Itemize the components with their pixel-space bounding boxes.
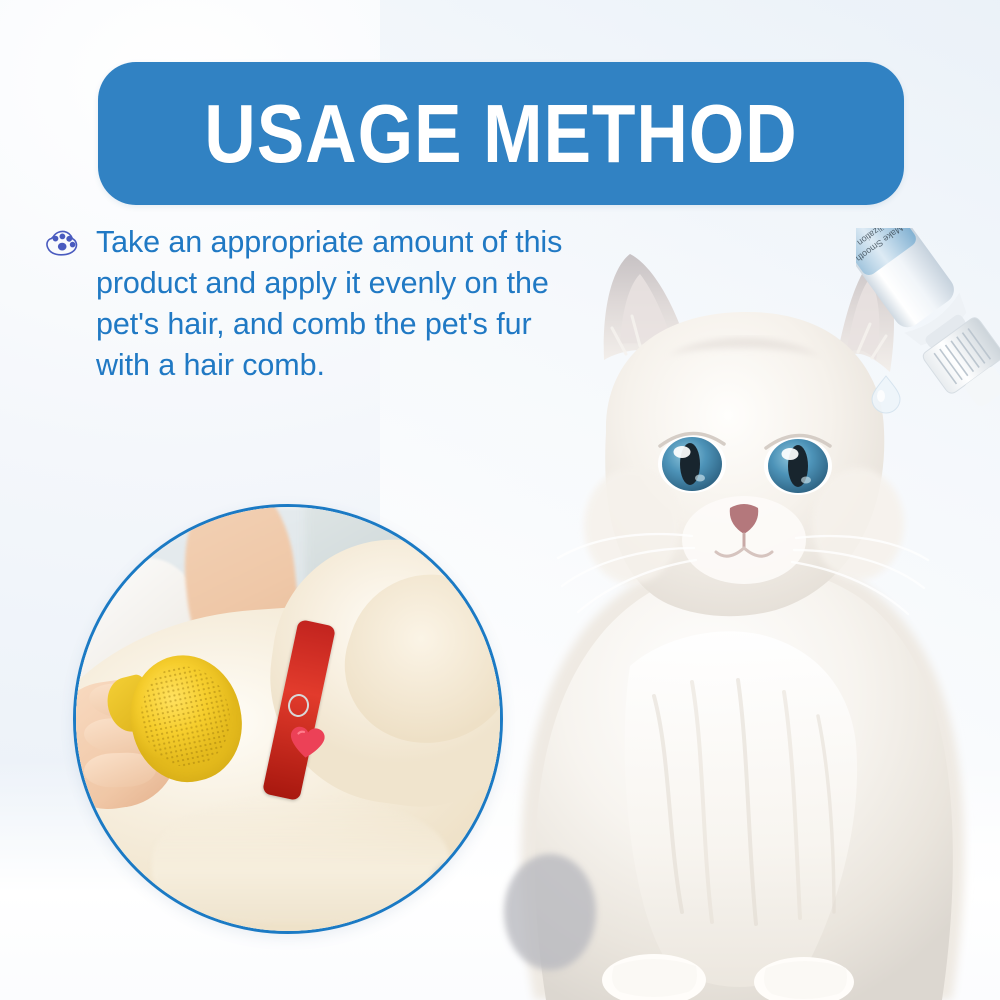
grooming-demo-photo <box>73 504 503 934</box>
cat-haunch-shadow <box>504 854 596 970</box>
inset-dog-fur <box>152 795 449 922</box>
instruction-block: Take an appropriate amount of this produ… <box>44 222 584 386</box>
page-title: USAGE METHOD <box>204 92 797 175</box>
poster-canvas: Make Smooth sterilization <box>0 0 1000 1000</box>
liquid-droplet <box>872 376 900 413</box>
usage-method-banner: USAGE METHOD <box>98 62 904 205</box>
inset-brush-bristles <box>132 659 239 776</box>
inset-heart-tag <box>288 726 325 763</box>
paw-print-icon <box>44 226 80 260</box>
product-bottle: Make Smooth sterilization <box>856 228 1000 458</box>
usage-instruction-text: Take an appropriate amount of this produ… <box>96 222 566 386</box>
cat-muzzle <box>682 496 806 584</box>
inset-tail-blur <box>432 863 500 931</box>
